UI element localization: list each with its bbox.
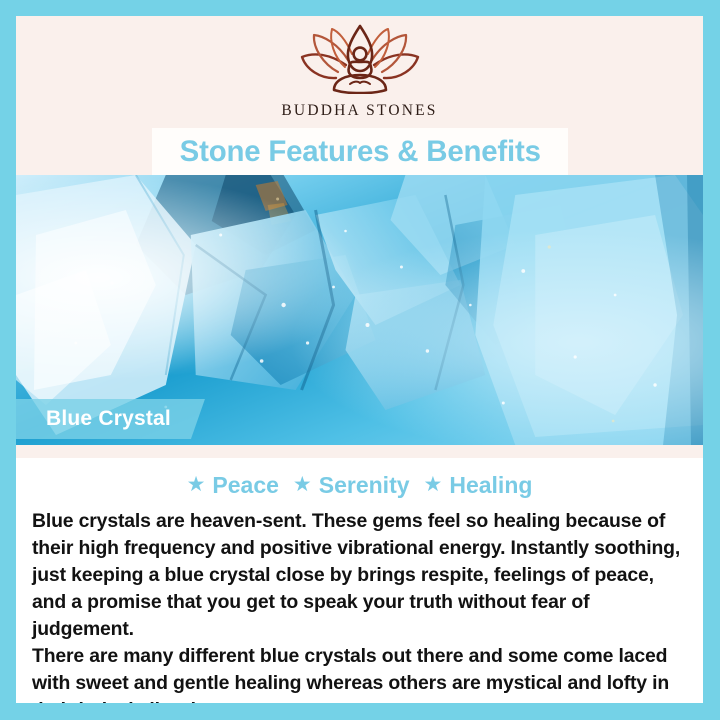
divider-strip — [16, 445, 703, 458]
lotus-meditation-icon — [290, 24, 430, 99]
keyword-item: ★ Serenity — [293, 472, 410, 499]
keyword-item: ★ Peace — [187, 472, 279, 499]
star-icon: ★ — [424, 474, 443, 495]
keyword-label: Peace — [212, 472, 279, 499]
hero-image: Blue Crystal — [16, 175, 703, 445]
star-icon: ★ — [293, 474, 312, 495]
brand-header: BUDDHA STONES — [16, 16, 703, 128]
stone-name: Blue Crystal — [46, 407, 171, 431]
logo-block: BUDDHA STONES — [16, 24, 703, 120]
brand-name: BUDDHA STONES — [281, 102, 437, 120]
stone-name-bar: Blue Crystal — [16, 399, 205, 439]
page-title: Stone Features & Benefits — [179, 135, 540, 169]
body-section: ★ Peace ★ Serenity ★ Healing Blue crysta… — [16, 458, 703, 703]
star-icon: ★ — [187, 474, 206, 495]
product-info-graphic: BUDDHA STONES Stone Features & Benefits — [0, 0, 720, 720]
keyword-list: ★ Peace ★ Serenity ★ Healing — [30, 472, 689, 499]
content-card: BUDDHA STONES Stone Features & Benefits — [16, 16, 703, 703]
description-paragraph-1: Blue crystals are heaven-sent. These gem… — [30, 508, 689, 643]
keyword-label: Serenity — [319, 472, 410, 499]
description-paragraph-2: There are many different blue crystals o… — [30, 643, 689, 703]
keyword-item: ★ Healing — [424, 472, 533, 499]
keyword-label: Healing — [449, 472, 532, 499]
title-panel: Stone Features & Benefits — [152, 128, 568, 175]
